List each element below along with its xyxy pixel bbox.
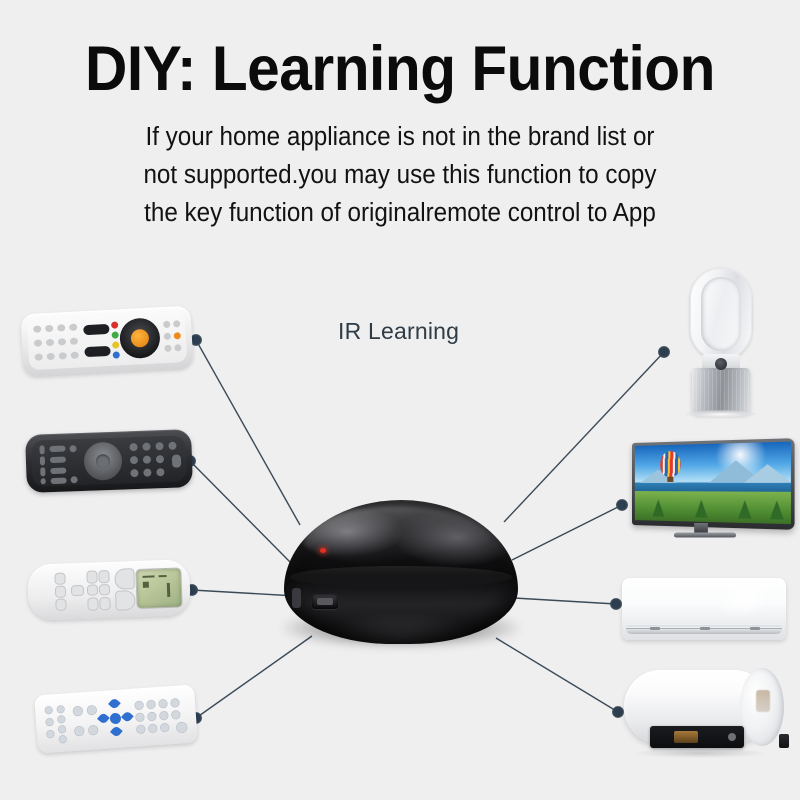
remote-color-button-yellow[interactable]: [40, 467, 45, 476]
heater-display: [674, 731, 698, 743]
led-indicator-icon: [320, 548, 326, 553]
remote-button[interactable]: [49, 446, 65, 453]
remote-button[interactable]: [56, 600, 65, 610]
ac-vent-tab: [650, 627, 660, 630]
ir-blaster-hub[interactable]: [276, 496, 526, 656]
remote-button[interactable]: [99, 571, 108, 582]
tower-fan-purifier[interactable]: [668, 268, 776, 416]
connector-dot-satellite-remote: [191, 335, 201, 345]
heater-outlet: [779, 734, 789, 748]
heater-control-panel[interactable]: [650, 726, 744, 748]
remote-button[interactable]: [50, 467, 66, 474]
fan-base: [692, 368, 750, 414]
air-conditioner-remote[interactable]: [27, 559, 191, 621]
fan-control-button[interactable]: [715, 358, 727, 370]
tv-image-mountain: [743, 464, 791, 484]
tv-screen: [635, 442, 791, 525]
fan-loop-aperture: [701, 277, 741, 351]
connector-dot-curved-tv: [617, 500, 627, 510]
remote-power-button-red[interactable]: [172, 454, 181, 467]
remote-button[interactable]: [55, 574, 64, 584]
remote-button[interactable]: [100, 585, 109, 594]
remote-button[interactable]: [88, 585, 97, 594]
connector-dot-split-ac: [611, 599, 621, 609]
water-heater[interactable]: [624, 664, 784, 768]
remote-mode-button-teal[interactable]: [115, 569, 134, 589]
remote-color-button-green[interactable]: [40, 456, 45, 465]
tv-image-hot-air-balloon: [660, 451, 680, 477]
tv-image-tree: [738, 500, 751, 519]
infographic-canvas: DIY: Learning Function If your home appl…: [0, 0, 800, 800]
remote-button[interactable]: [87, 571, 96, 582]
remote-color-button-red[interactable]: [39, 445, 44, 454]
connector-dot-water-heater: [613, 707, 623, 717]
remote-button[interactable]: [50, 457, 66, 464]
heater-brand-mark: [756, 690, 770, 712]
remote-button[interactable]: [51, 477, 67, 484]
ac-vent-tab: [700, 627, 710, 630]
fan-floor-reflection: [686, 410, 756, 418]
heater-knob[interactable]: [728, 733, 736, 741]
tv-stand-neck: [694, 523, 708, 533]
cable-box-remote[interactable]: [34, 684, 198, 753]
heater-shadow: [634, 748, 766, 758]
connector-curved-tv: [512, 505, 622, 560]
remote-button[interactable]: [88, 598, 97, 609]
hub-vent: [292, 588, 301, 608]
tv-image-tree: [770, 501, 784, 520]
remote-transport-button[interactable]: [83, 324, 109, 335]
connector-split-ac: [514, 598, 616, 604]
ac-vent-tab: [750, 627, 760, 630]
satellite-remote[interactable]: [20, 306, 193, 377]
remote-transport-button[interactable]: [84, 346, 110, 357]
tv-image-tree: [695, 500, 708, 518]
tv-remote-black[interactable]: [25, 429, 193, 493]
remote-button[interactable]: [72, 586, 83, 595]
remote-color-button-blue[interactable]: [41, 478, 46, 484]
connector-tv-remote-black: [190, 461, 290, 562]
tv-image-tree: [652, 499, 664, 517]
split-air-conditioner[interactable]: [622, 578, 786, 640]
curved-tv[interactable]: [632, 443, 788, 545]
remote-lcd-display: [136, 568, 181, 608]
micro-usb-port-icon: [312, 594, 338, 609]
hub-seam: [290, 566, 512, 588]
remote-button[interactable]: [100, 598, 109, 609]
tv-panel: [632, 438, 795, 530]
tv-stand-base: [674, 533, 737, 538]
remote-button[interactable]: [56, 587, 65, 597]
